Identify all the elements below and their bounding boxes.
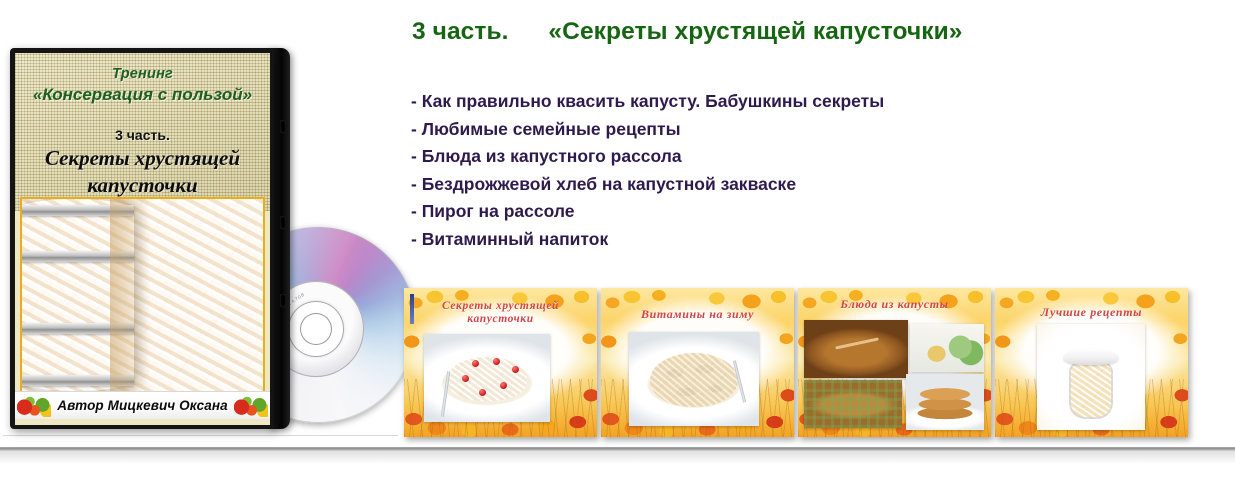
spine-notch xyxy=(280,294,286,307)
vegetables-icon xyxy=(234,395,268,417)
fork-icon xyxy=(441,371,450,417)
recipe-card-2[interactable]: Витамины на зиму xyxy=(601,288,794,437)
card-photo-pie xyxy=(804,380,902,428)
card-photo-cabbage-brine xyxy=(910,324,984,372)
cover-photo-panel xyxy=(20,197,265,393)
jar-cloth-lid xyxy=(1064,349,1118,365)
glass-jar xyxy=(1069,362,1112,419)
recipe-card-1[interactable]: Секреты хрустящей капусточки xyxy=(404,288,597,437)
list-item: - Пирог на рассоле xyxy=(411,198,884,226)
recipe-card-4[interactable]: Лучшие рецепты xyxy=(995,288,1188,437)
recipe-card-3[interactable]: Блюда из капусты xyxy=(798,288,991,437)
topic-list: - Как правильно квасить капусту. Бабушки… xyxy=(411,88,884,253)
vegetables-icon xyxy=(17,395,51,417)
cranberry-icon xyxy=(512,366,519,373)
card-photo-bread xyxy=(804,320,908,378)
shelf-shadow xyxy=(0,452,1235,464)
dvd-case-body: Тренинг «Консервация с пользой» 3 часть.… xyxy=(10,48,274,429)
card-title-line2: капусточки xyxy=(404,313,597,326)
card-title-line1: Витамины на зиму xyxy=(601,308,794,321)
dvd-cover-art: Тренинг «Консервация с пользой» 3 часть.… xyxy=(15,53,270,425)
mushroom-salad-heap xyxy=(650,353,738,408)
list-item: - Блюда из капустного рассола xyxy=(411,143,884,171)
cover-author-bar: Автор Мицкевич Оксана xyxy=(15,391,270,419)
card-title-line1: Лучшие рецепты xyxy=(995,306,1188,319)
disc-center-hole xyxy=(300,313,332,345)
cover-author-name: Автор Мицкевич Оксана xyxy=(57,398,228,413)
page-title: 3 часть. «Секреты хрустящей капусточки» xyxy=(412,18,963,46)
cover-subtitle-line2: капусточки xyxy=(15,173,270,198)
card-title-line1: Блюда из капусты xyxy=(798,298,991,311)
list-item: - Бездрожжевой хлеб на капустной закваск… xyxy=(411,171,884,199)
spine-notch xyxy=(280,120,286,133)
card-tab-marker xyxy=(410,294,414,324)
cover-subtitle-line1: Секреты хрустящей xyxy=(15,146,270,171)
bread-crust-crack xyxy=(835,338,878,350)
barrel-blend xyxy=(110,199,150,391)
cover-series-title: «Консервация с пользой» xyxy=(15,85,270,105)
headline-title: «Секреты хрустящей капусточки» xyxy=(548,18,962,45)
sauerkraut-heap xyxy=(447,357,528,401)
card-photo-sauerkraut-jar xyxy=(1037,324,1145,430)
card-photo-pancakes xyxy=(906,374,984,430)
slide-canvas: DVD-R 4.7GB Тренинг «Консервация с польз… xyxy=(0,0,1235,483)
dvd-case: Тренинг «Консервация с пользой» 3 часть.… xyxy=(10,48,290,429)
cranberry-icon xyxy=(500,382,507,389)
tablecloth-pattern xyxy=(804,380,902,428)
list-item: - Любимые семейные рецепты xyxy=(411,116,884,144)
cover-training-label: Тренинг xyxy=(15,66,270,82)
headline-part: 3 часть. xyxy=(412,18,509,45)
spine-notch xyxy=(280,216,286,229)
list-item: - Как правильно квасить капусту. Бабушки… xyxy=(411,88,884,116)
card-photo-sauerkraut-plate xyxy=(424,334,550,422)
list-item: - Витаминный напиток xyxy=(411,226,884,254)
card-photo-winter-salad xyxy=(629,332,759,426)
shelf-edge-line xyxy=(3,435,398,436)
card-title-line1: Секреты хрустящей xyxy=(404,300,597,313)
dvd-disc: DVD-R 4.7GB xyxy=(272,228,400,424)
cover-part-label: 3 часть. xyxy=(15,127,270,143)
